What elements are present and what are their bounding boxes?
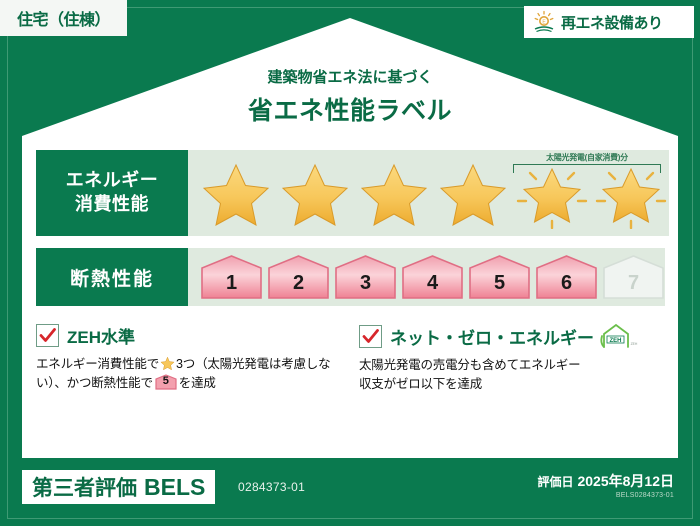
grade-badge: 1	[200, 254, 263, 300]
zeh-level-header: ZEH水準	[36, 323, 341, 348]
evaluation-date: 評価日2025年8月12日	[537, 471, 674, 491]
grade-badge: 2	[267, 254, 330, 300]
energy-label-line1: エネルギー	[66, 169, 159, 193]
insulation-grade-list: 1 2 3	[188, 254, 665, 300]
zeh-level-description: エネルギー消費性能で3つ（太陽光発電は考慮しない）、かつ断熱性能で5を達成	[36, 355, 341, 394]
insulation-performance-body: 1 2 3	[188, 248, 665, 306]
grade-badge: 6	[535, 254, 598, 300]
energy-performance-label: エネルギー 消費性能	[36, 150, 188, 236]
zeh-desc-part3: を達成	[179, 376, 216, 390]
grade-badge-inactive: 7	[602, 254, 665, 300]
grade-badge: 5	[468, 254, 531, 300]
zeh-level-check: ZEH水準 エネルギー消費性能で3つ（太陽光発電は考慮しない）、かつ断熱性能で5…	[36, 323, 341, 395]
grade-badge: 4	[401, 254, 464, 300]
star-icon	[277, 157, 353, 229]
energy-label-line2: 消費性能	[75, 193, 149, 217]
checkmark-icon	[36, 324, 59, 347]
category-tag-label: 住宅（住棟）	[17, 6, 110, 30]
grade-badge-value: 1	[200, 272, 263, 295]
insulation-performance-row: 断熱性能 1	[36, 248, 664, 306]
net-zero-energy-check: ネット・ゼロ・エネルギー ZEH ZEH 太陽光発電の売電分も含めてエネルギー …	[359, 323, 664, 395]
star-icon	[198, 157, 274, 229]
grade-badge-value: 2	[267, 272, 330, 295]
inline-grade-badge: 5	[155, 374, 177, 390]
zeh-level-title: ZEH水準	[67, 323, 135, 348]
label-footer: 第三者評価 BELS 0284373-01 評価日2025年8月12日 BELS…	[0, 458, 700, 526]
solar-annotation-bracket	[513, 164, 661, 173]
grade-badge-value: 4	[401, 272, 464, 295]
title-main: 省エネ性能ラベル	[22, 91, 678, 127]
energy-performance-body: 太陽光発電(自家消費)分	[188, 150, 669, 236]
inline-grade-value: 5	[155, 373, 177, 390]
energy-performance-row: エネルギー 消費性能	[36, 150, 664, 236]
renewable-energy-badge: E 再エネ設備あり	[524, 6, 694, 38]
insulation-label-text: 断熱性能	[70, 264, 154, 291]
inline-star-icon	[160, 356, 175, 371]
title-block: 建築物省エネ法に基づく 省エネ性能ラベル	[22, 66, 678, 127]
net-zero-description: 太陽光発電の売電分も含めてエネルギー 収支がゼロ以下を達成	[359, 356, 664, 395]
grade-badge-value: 7	[602, 272, 665, 295]
zeh-desc-part1: エネルギー消費性能で	[36, 357, 159, 371]
star-icon	[435, 157, 511, 229]
net-zero-desc-line1: 太陽光発電の売電分も含めてエネルギー	[359, 356, 664, 375]
zeh-desc-star-text: 3つ（太陽光発電	[176, 357, 269, 371]
insulation-performance-label: 断熱性能	[36, 248, 188, 306]
grade-badge-value: 6	[535, 272, 598, 295]
zeh-house-logo-icon: ZEH ZEH	[598, 323, 640, 349]
solar-annotation: 太陽光発電(自家消費)分	[513, 152, 661, 173]
renewable-badge-label: 再エネ設備あり	[561, 12, 663, 33]
svg-text:ZEH: ZEH	[610, 338, 622, 344]
bels-energy-label: 住宅（住棟） E 再エネ設備あり 建築物省エネ法に基づく	[0, 0, 700, 526]
star-icon	[356, 157, 432, 229]
grade-badge-value: 3	[334, 272, 397, 295]
svg-text:ZEH: ZEH	[631, 342, 638, 346]
net-zero-desc-line2: 収支がゼロ以下を達成	[359, 375, 664, 394]
title-subtitle: 建築物省エネ法に基づく	[22, 66, 678, 87]
grade-badge: 3	[334, 254, 397, 300]
category-tag: 住宅（住棟）	[0, 0, 127, 36]
criteria-checks: ZEH水準 エネルギー消費性能で3つ（太陽光発電は考慮しない）、かつ断熱性能で5…	[36, 323, 664, 395]
sun-icon: E	[532, 10, 556, 34]
evaluation-date-label: 評価日	[537, 475, 573, 489]
solar-annotation-label: 太陽光発電(自家消費)分	[513, 152, 661, 163]
checkmark-icon	[359, 325, 382, 348]
grade-badge-value: 5	[468, 272, 531, 295]
label-content: 建築物省エネ法に基づく 省エネ性能ラベル エネルギー 消費性能	[22, 18, 678, 458]
bels-jp-label: 第三者評価	[32, 472, 137, 502]
bels-certification-plate: 第三者評価 BELS	[22, 470, 215, 504]
net-zero-header: ネット・ゼロ・エネルギー ZEH ZEH	[359, 323, 664, 349]
evaluation-code: BELS0284373-01	[616, 492, 674, 499]
evaluation-date-value: 2025年8月12日	[577, 473, 674, 489]
bels-en-label: BELS	[144, 474, 205, 501]
bels-number: 0284373-01	[238, 480, 305, 494]
net-zero-title: ネット・ゼロ・エネルギー	[390, 324, 594, 349]
